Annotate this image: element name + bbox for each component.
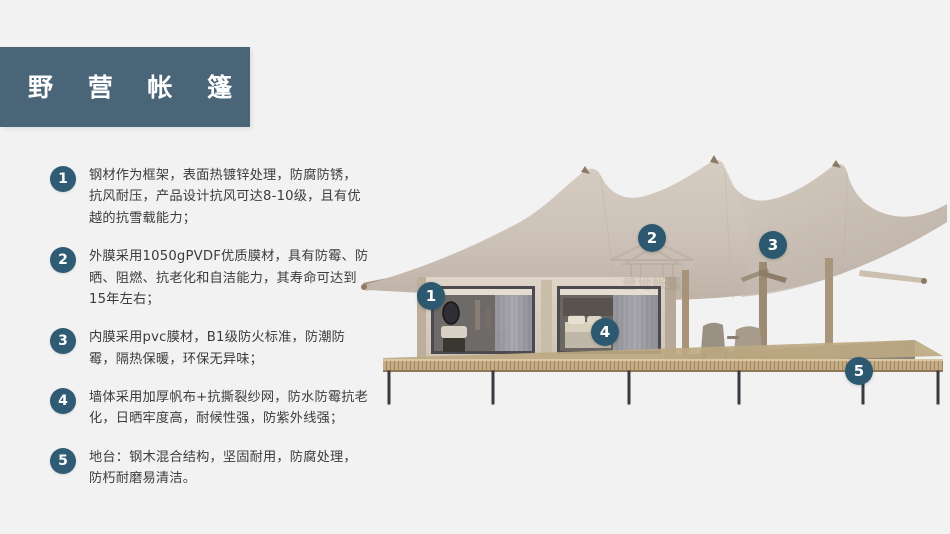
- list-item-text: 地台：钢木混合结构，坚固耐用，防腐处理，防朽耐磨易清洁。: [89, 447, 370, 490]
- list-item-number-badge: 2: [50, 247, 76, 273]
- list-item-text: 钢材作为框架，表面热镀锌处理，防腐防锈，抗风耐压，产品设计抗风可达8-10级，且…: [89, 165, 370, 229]
- list-item-text: 外膜采用1050gPVDF优质膜材，具有防霉、防晒、阻燃、抗老化和自洁能力，其寿…: [89, 246, 370, 310]
- list-item: 3 内膜采用pvc膜材，B1级防火标准，防潮防霉，隔热保暖，环保无异味；: [50, 327, 370, 370]
- window-left-bathroom: [431, 286, 535, 354]
- callout-badge-2[interactable]: 2: [638, 224, 666, 252]
- callout-badge-3[interactable]: 3: [759, 231, 787, 259]
- list-item: 2 外膜采用1050gPVDF优质膜材，具有防霉、防晒、阻燃、抗老化和自洁能力，…: [50, 246, 370, 310]
- list-item-number-badge: 4: [50, 388, 76, 414]
- list-item-text: 内膜采用pvc膜材，B1级防火标准，防潮防霉，隔热保暖，环保无异味；: [89, 327, 370, 370]
- callout-badge-1[interactable]: 1: [417, 282, 445, 310]
- callout-badge-4[interactable]: 4: [591, 318, 619, 346]
- list-item: 4 墙体采用加厚帆布+抗撕裂纱网，防水防霉抗老化，日晒牢度高，耐候性强，防紫外线…: [50, 387, 370, 430]
- tent-cabin: [417, 277, 676, 361]
- list-item-text: 墙体采用加厚帆布+抗撕裂纱网，防水防霉抗老化，日晒牢度高，耐候性强，防紫外线强；: [89, 387, 370, 430]
- list-item-number-badge: 5: [50, 448, 76, 474]
- list-item: 1 钢材作为框架，表面热镀锌处理，防腐防锈，抗风耐压，产品设计抗风可达8-10级…: [50, 165, 370, 229]
- page-title: 野 营 帐 篷: [0, 75, 245, 100]
- list-item-number-badge: 3: [50, 328, 76, 354]
- page-root: 野 营 帐 篷 1 钢材作为框架，表面热镀锌处理，防腐防锈，抗风耐压，产品设计抗…: [0, 0, 950, 534]
- list-item: 5 地台：钢木混合结构，坚固耐用，防腐处理，防朽耐磨易清洁。: [50, 447, 370, 490]
- page-title-banner: 野 营 帐 篷: [0, 47, 250, 127]
- guy-line-right: [859, 270, 927, 284]
- list-item-number-badge: 1: [50, 166, 76, 192]
- callout-badge-5[interactable]: 5: [845, 357, 873, 385]
- feature-list: 1 钢材作为框架，表面热镀锌处理，防腐防锈，抗风耐压，产品设计抗风可达8-10级…: [50, 165, 370, 490]
